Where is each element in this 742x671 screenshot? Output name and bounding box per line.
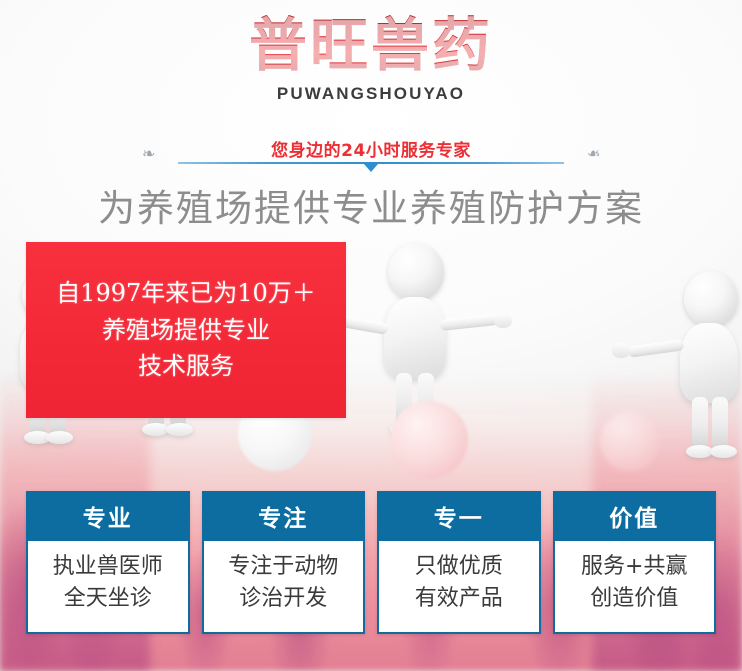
feature-card-title: 专一: [379, 493, 539, 541]
feature-card-line-1: 执业兽医师: [53, 551, 163, 584]
feature-card-value[interactable]: 价值 服务+共赢 创造价值: [553, 491, 717, 634]
red-callout-line-3: 技术服务: [138, 348, 234, 384]
feature-card-row: 专业 执业兽医师 全天坐诊 专注 专注于动物 诊治开发 专一 只做优质 有效产品…: [26, 491, 716, 634]
feature-card-dedicated[interactable]: 专一 只做优质 有效产品: [377, 491, 541, 634]
feature-card-title: 专注: [204, 493, 364, 541]
brand-block: 普旺兽药 PUWANGSHOUYAO: [0, 14, 742, 104]
caret-down-icon: [364, 164, 378, 172]
feature-card-line-1: 专注于动物: [228, 551, 338, 584]
feature-card-title: 专业: [28, 493, 188, 541]
feature-card-focus[interactable]: 专注 专注于动物 诊治开发: [202, 491, 366, 634]
feature-card-line-2: 诊治开发: [239, 583, 327, 616]
feature-card-body: 专注于动物 诊治开发: [204, 541, 364, 632]
promo-poster: 普旺兽药 PUWANGSHOUYAO ❧ ❧ 您身边的24小时服务专家 为养殖场…: [0, 0, 742, 671]
feature-card-title: 价值: [555, 493, 715, 541]
feature-card-professional[interactable]: 专业 执业兽医师 全天坐诊: [26, 491, 190, 634]
feature-card-body: 只做优质 有效产品: [379, 541, 539, 632]
brand-name-en: PUWANGSHOUYAO: [0, 84, 742, 104]
feature-card-line-2: 全天坐诊: [64, 583, 152, 616]
feature-card-line-1: 只做优质: [415, 551, 503, 584]
tagline-divider: ❧ ❧ 您身边的24小时服务专家: [0, 138, 742, 176]
red-callout-box: 自1997年来已为10万＋ 养殖场提供专业 技术服务: [26, 242, 346, 418]
feature-card-body: 执业兽医师 全天坐诊: [28, 541, 188, 632]
headline-text: 为养殖场提供专业养殖防护方案: [0, 178, 742, 232]
flourish-right-icon: ❧: [587, 147, 600, 163]
flourish-left-icon: ❧: [142, 147, 155, 163]
feature-card-line-2: 有效产品: [415, 583, 503, 616]
feature-card-body: 服务+共赢 创造价值: [555, 541, 715, 632]
feature-card-line-2: 创造价值: [590, 583, 678, 616]
brand-name-cn: 普旺兽药: [0, 14, 742, 77]
mannequin-foreground-head-4: [600, 411, 660, 471]
red-callout-line-2: 养殖场提供专业: [102, 312, 270, 348]
tagline-text: 您身边的24小时服务专家: [156, 136, 586, 161]
red-callout-line-1: 自1997年来已为10万＋: [56, 275, 316, 311]
mannequin-foreground-head-2: [390, 401, 468, 479]
feature-card-line-1: 服务+共赢: [581, 551, 687, 584]
